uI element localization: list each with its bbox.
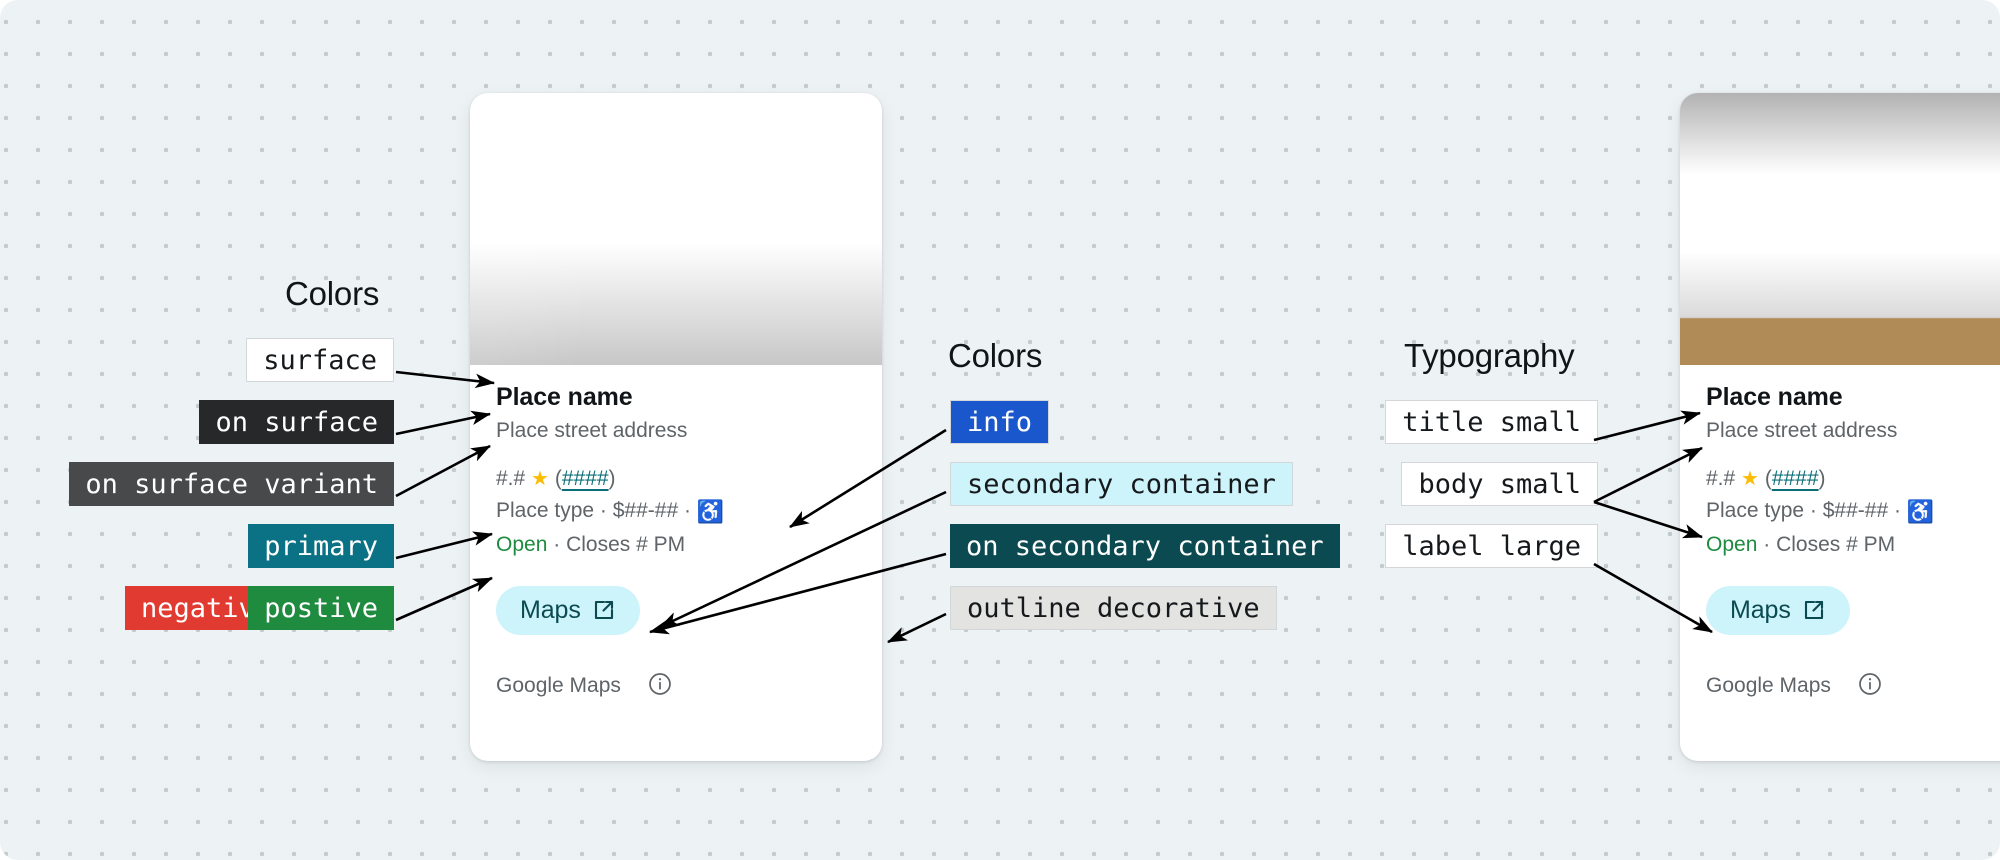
place-card-body: Place name Place street address #.# ★ (#… xyxy=(470,365,882,720)
rating-close-paren: ) xyxy=(609,467,616,490)
info-circle-icon[interactable] xyxy=(1857,671,1883,702)
section-heading-colors-middle: Colors xyxy=(948,337,1042,375)
meta-separator-1: · xyxy=(1810,499,1817,522)
place-meta-row: Place type · $##-## · ♿ xyxy=(496,498,856,526)
footer-attribution-label: Google Maps xyxy=(496,674,621,698)
wheelchair-accessible-icon: ♿ xyxy=(1907,499,1934,524)
review-count-link[interactable]: #### xyxy=(562,467,609,490)
rating-value: #.# xyxy=(496,467,525,490)
maps-button-label: Maps xyxy=(1730,598,1791,623)
typography-chip-body-small[interactable]: body small xyxy=(1401,462,1598,506)
place-name: Place name xyxy=(1706,383,2000,412)
color-chip-on-secondary-container[interactable]: on secondary container xyxy=(950,524,1340,568)
color-chip-on-surface-variant[interactable]: on surface variant xyxy=(69,462,394,506)
open-status-label: Open xyxy=(496,533,547,556)
place-card-footer: Google Maps xyxy=(496,671,856,720)
maps-button[interactable]: Maps xyxy=(496,586,640,635)
place-card-right: Place name Place street address #.# ★ (#… xyxy=(1680,93,2000,761)
external-link-icon xyxy=(1802,598,1826,622)
wheelchair-accessible-icon: ♿ xyxy=(697,499,724,524)
meta-separator-2: · xyxy=(684,499,691,522)
rating-value: #.# xyxy=(1706,467,1735,490)
place-hours-row: Open · Closes # PM xyxy=(496,532,856,558)
place-meta-row: Place type · $##-## · ♿ xyxy=(1706,498,2000,526)
place-card-left: Place name Place street address #.# ★ (#… xyxy=(470,93,882,761)
maps-button-label: Maps xyxy=(520,598,581,623)
color-chip-secondary-container[interactable]: secondary container xyxy=(950,462,1293,506)
maps-button[interactable]: Maps xyxy=(1706,586,1850,635)
typography-chip-label-large[interactable]: label large xyxy=(1385,524,1598,568)
review-count-link[interactable]: #### xyxy=(1772,467,1819,490)
rating-close-paren: ) xyxy=(1819,467,1826,490)
place-name: Place name xyxy=(496,383,856,412)
color-chip-on-surface[interactable]: on surface xyxy=(199,400,394,444)
info-circle-icon[interactable] xyxy=(647,671,673,702)
place-rating-row: #.# ★ (####) xyxy=(1706,466,2000,492)
star-icon: ★ xyxy=(1741,468,1759,490)
place-address: Place street address xyxy=(1706,418,2000,443)
section-heading-colors-left: Colors xyxy=(285,275,379,313)
star-icon: ★ xyxy=(531,468,549,490)
typography-chip-title-small[interactable]: title small xyxy=(1385,400,1598,444)
price-range: $##-## xyxy=(613,499,678,522)
hours-separator: · xyxy=(1763,533,1770,556)
open-status-label: Open xyxy=(1706,533,1757,556)
bakery-pastries-photo xyxy=(470,93,882,365)
color-chip-info[interactable]: info xyxy=(950,400,1049,444)
meta-separator-2: · xyxy=(1894,499,1901,522)
place-type: Place type xyxy=(1706,499,1804,522)
external-link-icon xyxy=(592,598,616,622)
section-heading-typography: Typography xyxy=(1404,337,1574,375)
color-chip-postive[interactable]: postive xyxy=(248,586,394,630)
rating-open-paren: ( xyxy=(555,467,562,490)
place-card-footer: Google Maps xyxy=(1706,671,2000,720)
arrow-outline-decorative-to-card-edge xyxy=(888,614,946,642)
annotation-board: Colors Colors Typography surface on surf… xyxy=(0,0,2000,860)
cafe-interior-photo xyxy=(1680,93,2000,365)
color-chip-primary[interactable]: primary xyxy=(248,524,394,568)
place-address: Place street address xyxy=(496,418,856,443)
closing-time: Closes # PM xyxy=(1776,533,1895,556)
price-range: $##-## xyxy=(1823,499,1888,522)
place-hours-row: Open · Closes # PM xyxy=(1706,532,2000,558)
place-type: Place type xyxy=(496,499,594,522)
place-card-body: Place name Place street address #.# ★ (#… xyxy=(1680,365,2000,720)
footer-attribution-label: Google Maps xyxy=(1706,674,1831,698)
color-chip-surface[interactable]: surface xyxy=(246,338,394,382)
rating-open-paren: ( xyxy=(1765,467,1772,490)
meta-separator-1: · xyxy=(600,499,607,522)
hours-separator: · xyxy=(553,533,560,556)
place-rating-row: #.# ★ (####) xyxy=(496,466,856,492)
closing-time: Closes # PM xyxy=(566,533,685,556)
color-chip-outline-decorative[interactable]: outline decorative xyxy=(950,586,1277,630)
